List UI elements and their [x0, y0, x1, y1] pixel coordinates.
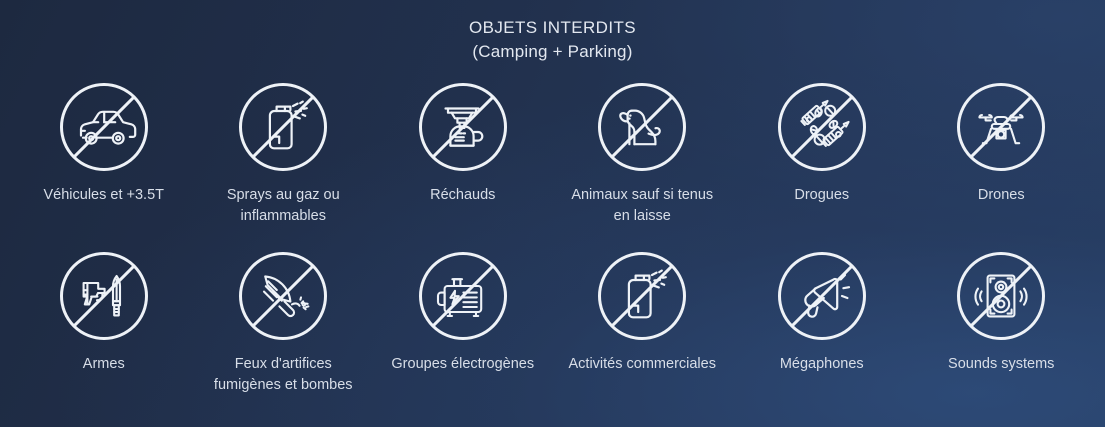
prohibited-item-vehicles: Véhicules et +3.5T — [14, 81, 194, 250]
prohibited-item-sprays: Sprays au gaz ou inflammables — [194, 81, 374, 250]
no-weapons-icon — [58, 250, 150, 342]
page-title: OBJETS INTERDITS — [0, 16, 1105, 40]
prohibited-item-weapons: Armes — [14, 250, 194, 419]
prohibited-item-label: Armes — [20, 354, 188, 375]
no-vehicles-icon — [58, 81, 150, 173]
prohibited-item-label: Véhicules et +3.5T — [20, 185, 188, 206]
prohibited-item-label: Groupes électrogènes — [379, 354, 547, 375]
prohibited-item-commercial-activities: Activités commerciales — [553, 250, 733, 419]
no-camping-stove-icon — [417, 81, 509, 173]
prohibited-item-label: Mégaphones — [738, 354, 906, 375]
no-generator-icon — [417, 250, 509, 342]
no-spray-can-icon — [237, 81, 329, 173]
prohibited-item-sound-systems: Sounds systems — [912, 250, 1092, 419]
no-fireworks-icon — [237, 250, 329, 342]
prohibited-items-board: OBJETS INTERDITS (Camping + Parking) — [0, 0, 1105, 427]
prohibited-items-grid: Véhicules et +3.5T Sprays au gaz ou infl… — [0, 81, 1105, 419]
no-megaphone-icon — [776, 250, 868, 342]
prohibited-item-label: Réchauds — [379, 185, 547, 206]
no-drugs-icon — [776, 81, 868, 173]
prohibited-item-drugs: Drogues — [732, 81, 912, 250]
no-pets-icon — [596, 81, 688, 173]
prohibited-item-label: Feux d'artifices fumigènes et bombes — [199, 354, 367, 396]
prohibited-item-stoves: Réchauds — [373, 81, 553, 250]
no-drones-icon — [955, 81, 1047, 173]
prohibited-item-fireworks: Feux d'artifices fumigènes et bombes — [194, 250, 374, 419]
no-commercial-activity-icon — [596, 250, 688, 342]
prohibited-item-megaphones: Mégaphones — [732, 250, 912, 419]
prohibited-item-label: Animaux sauf si tenus en laisse — [558, 185, 726, 227]
board-header: OBJETS INTERDITS (Camping + Parking) — [0, 0, 1105, 64]
prohibited-item-label: Activités commerciales — [558, 354, 726, 375]
prohibited-item-drones: Drones — [912, 81, 1092, 250]
page-subtitle: (Camping + Parking) — [0, 40, 1105, 64]
prohibited-item-label: Drogues — [738, 185, 906, 206]
prohibited-item-label: Sprays au gaz ou inflammables — [199, 185, 367, 227]
no-sound-system-icon — [955, 250, 1047, 342]
prohibited-item-generators: Groupes électrogènes — [373, 250, 553, 419]
prohibited-item-label: Drones — [917, 185, 1085, 206]
prohibited-item-label: Sounds systems — [917, 354, 1085, 375]
prohibited-item-pets: Animaux sauf si tenus en laisse — [553, 81, 733, 250]
